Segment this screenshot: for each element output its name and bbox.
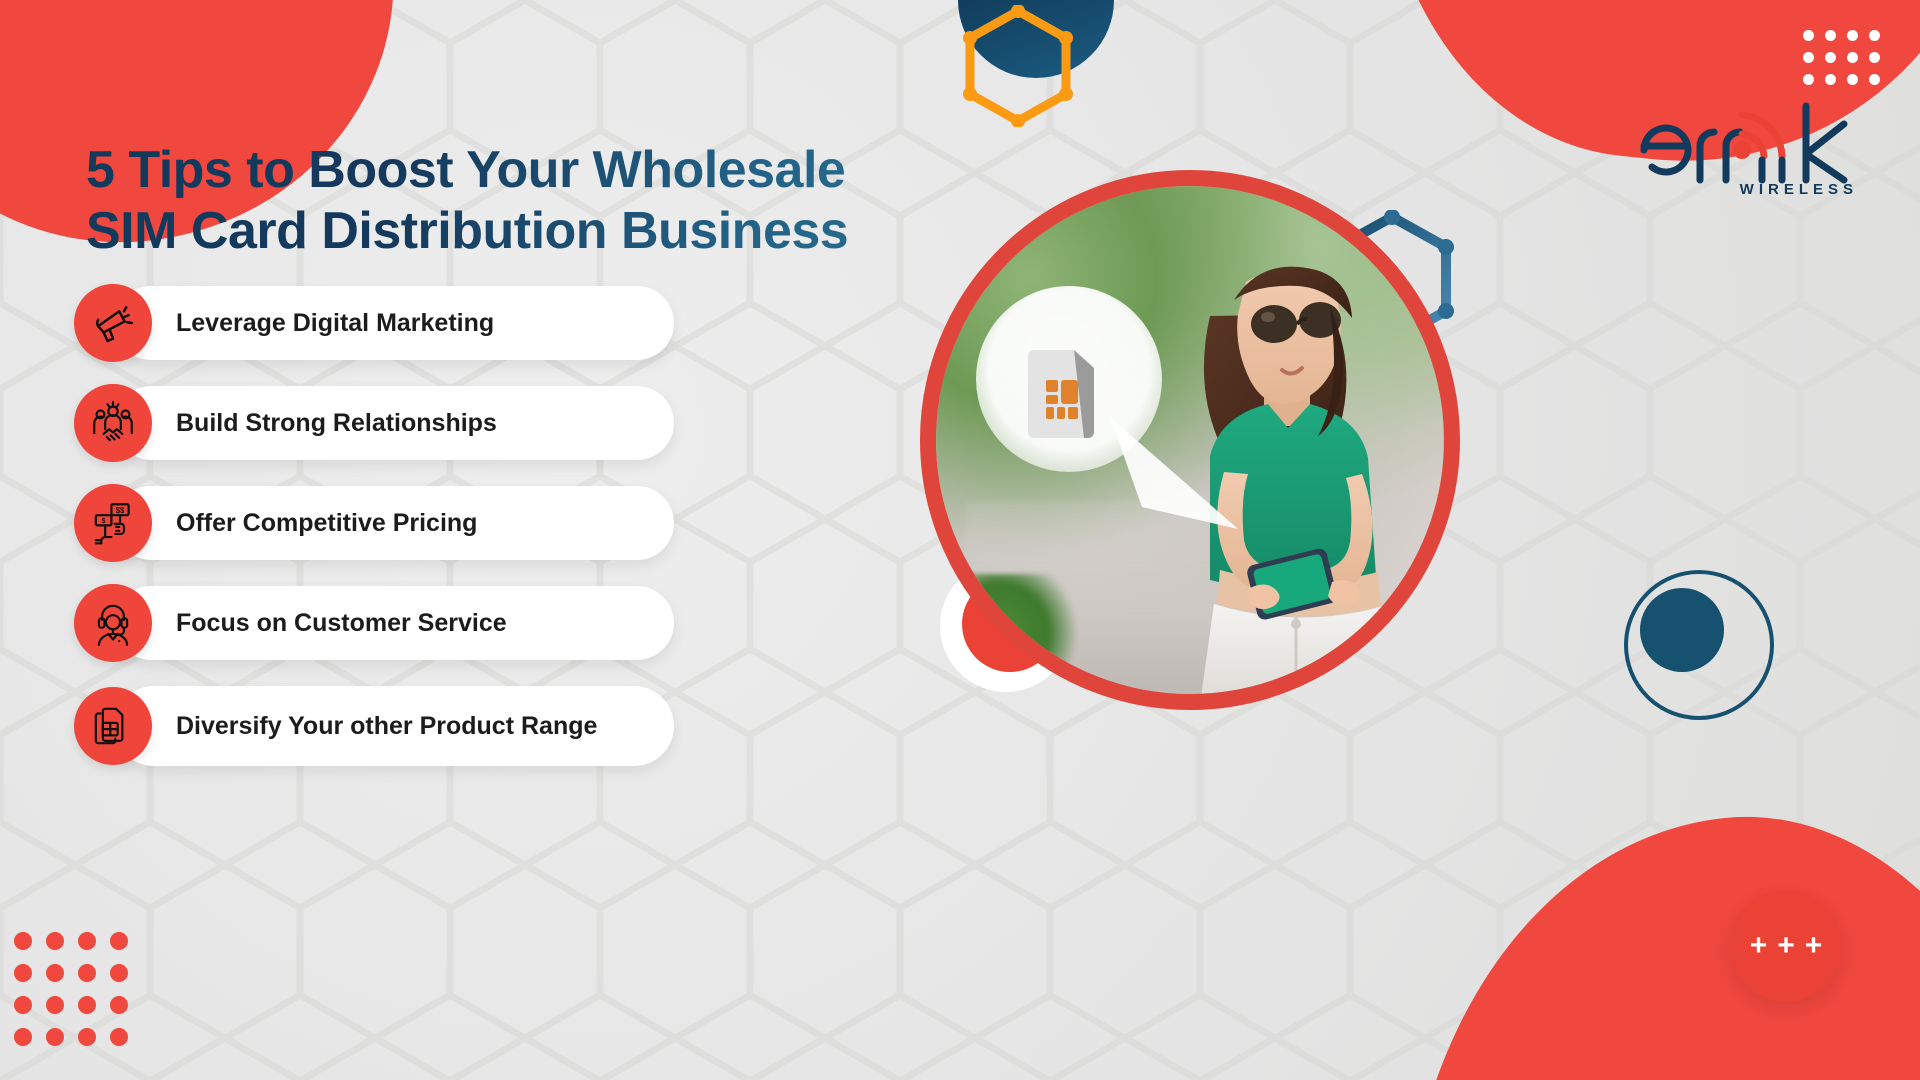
list-item-label: Focus on Customer Service (176, 608, 507, 638)
svg-text:$: $ (102, 518, 106, 525)
list-item-label: Leverage Digital Marketing (176, 308, 494, 338)
svg-text:$$: $$ (116, 506, 125, 515)
headset-agent-icon (74, 584, 152, 662)
orange-hexagon-icon (963, 5, 1073, 127)
red-dot-grid (14, 932, 128, 1046)
title-line-2: SIM Card Distribution Business (86, 201, 966, 262)
plus-icon-2: + (1777, 931, 1795, 961)
list-item[interactable]: $$ $ Offer Competitive Pricing (74, 486, 674, 560)
plus-badge: + + + (1730, 890, 1842, 1002)
hero-photo (920, 170, 1460, 710)
title-line-1: 5 Tips to Boost Your Wholesale (86, 140, 966, 201)
megaphone-icon (74, 284, 152, 362)
white-dot-grid (1803, 30, 1880, 85)
errik-wireless-logo: WIRELESS (1630, 88, 1860, 198)
page-title: 5 Tips to Boost Your Wholesale SIM Card … (86, 140, 966, 262)
list-item[interactable]: Build Strong Relationships (74, 386, 674, 460)
list-item-label: Offer Competitive Pricing (176, 508, 477, 538)
list-item[interactable]: Diversify Your other Product Range (74, 686, 674, 766)
list-item[interactable]: Leverage Digital Marketing (74, 286, 674, 360)
plus-icon-3: + (1805, 931, 1823, 961)
logo-tagline: WIRELESS (1740, 181, 1858, 198)
plus-icon-1: + (1750, 931, 1768, 961)
tips-list: Leverage Digital Marketing Build Strong … (74, 286, 674, 792)
list-item[interactable]: Focus on Customer Service (74, 586, 674, 660)
price-tag-money-icon: $$ $ (74, 484, 152, 562)
sim-card-stack-icon (74, 687, 152, 765)
list-item-label: Build Strong Relationships (176, 408, 497, 438)
handshake-people-icon (74, 384, 152, 462)
navy-dot-decoration (1640, 588, 1724, 672)
list-item-label: Diversify Your other Product Range (176, 711, 597, 741)
photo-ring (920, 170, 1460, 710)
